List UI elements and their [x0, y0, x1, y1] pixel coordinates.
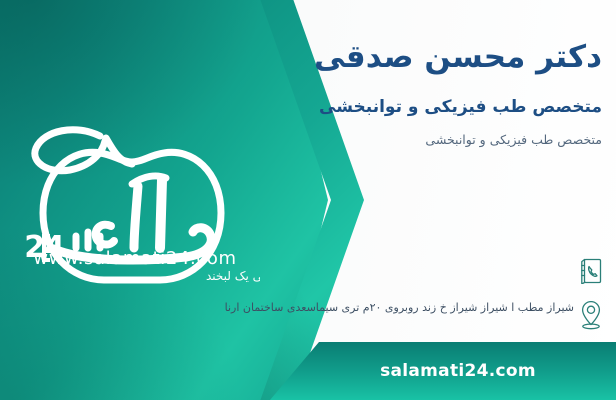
contact-address: شیراز مطب ا شیراز شیراز خ زند روبروی ۲۰م…	[178, 296, 574, 317]
doctor-specialty-primary: متخصص طب فیزیکی و توانبخشی	[182, 96, 602, 119]
map-pin-icon	[574, 296, 608, 334]
contact-row-phone[interactable]	[178, 252, 608, 290]
contact-row-address[interactable]: شیراز مطب ا شیراز شیراز خ زند روبروی ۲۰م…	[178, 296, 608, 334]
footer-website-link[interactable]: salamati24.com	[300, 342, 616, 400]
doctor-specialty-secondary: متخصص طب فیزیکی و توانبخشی	[182, 132, 602, 149]
doctor-profile-card: 24 براحتی یک لبخند www.salamati24.com دک…	[0, 0, 616, 400]
contact-address-line-1: شیراز مطب ا شیراز شیراز خ زند روبروی ۲۰م…	[287, 301, 574, 314]
doctor-name: دکتر محسن صدقی	[182, 38, 602, 77]
contact-block: شیراز مطب ا شیراز شیراز خ زند روبروی ۲۰م…	[178, 252, 608, 340]
contact-phone-value	[178, 252, 574, 256]
phonebook-icon	[574, 252, 608, 290]
contact-address-line-2: ساختمان ارنا	[225, 301, 284, 314]
